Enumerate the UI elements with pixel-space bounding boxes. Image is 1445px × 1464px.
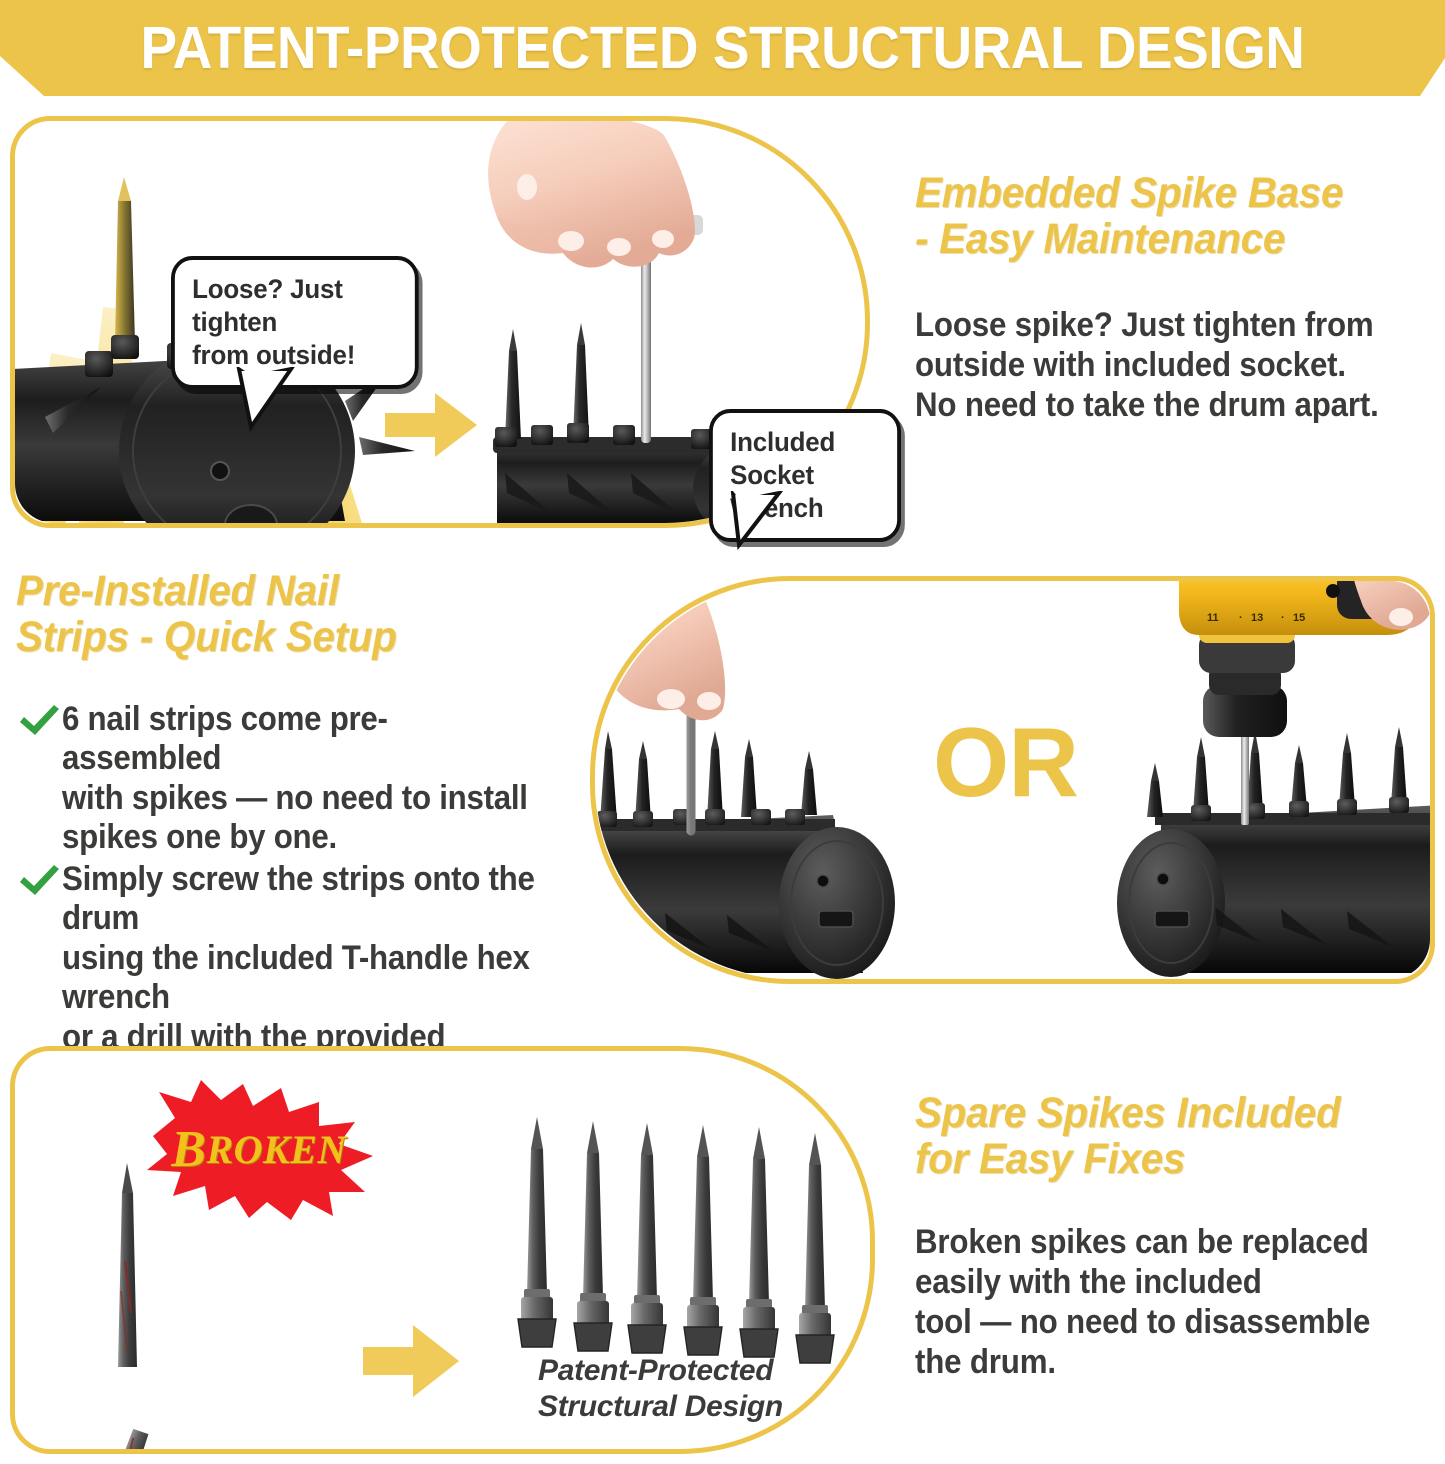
check-icon	[16, 704, 62, 738]
heading-pre-installed-nail-strips: Pre-Installed Nail Strips - Quick Setup	[16, 568, 542, 660]
body-embedded-spike-base: Loose spike? Just tighten from outside w…	[915, 305, 1412, 425]
speech-bubble-loose-tail	[233, 367, 303, 433]
electric-drill-icon: 11· 13· 15	[1179, 581, 1430, 737]
aerator-drum-drill	[1117, 727, 1430, 977]
svg-text:13: 13	[1251, 612, 1263, 624]
broken-spike-tip-icon	[118, 1163, 137, 1367]
or-label: OR	[933, 713, 1078, 811]
spikes-caption: Patent-Protected Structural Design	[538, 1353, 868, 1425]
svg-text:·: ·	[1239, 612, 1243, 624]
page-title: PATENT-PROTECTED STRUCTURAL DESIGN	[51, 0, 1395, 96]
aerator-drum-hexkey	[595, 731, 895, 979]
list-item: 6 nail strips come pre-assembled with sp…	[16, 700, 586, 858]
hex-bit-icon	[1241, 729, 1249, 825]
svg-text:·: ·	[1281, 612, 1285, 624]
installed-spikes-right	[1147, 727, 1407, 817]
broken-burst-icon	[143, 1078, 375, 1220]
heading-spare-spikes: Spare Spikes Included for Easy Fixes	[915, 1090, 1423, 1182]
process-arrow-icon-2	[363, 1325, 459, 1397]
svg-text:15: 15	[1293, 612, 1305, 624]
panel-spare-spikes: Patent-Protected Structural Design	[10, 1046, 875, 1454]
check-icon	[16, 864, 62, 898]
panel-pre-installed-tools: 11· 13· 15 OR	[590, 576, 1435, 984]
speech-bubble-socket-tail	[727, 491, 791, 551]
spare-spikes-row	[518, 1117, 834, 1363]
list-item-label: 6 nail strips come pre-assembled with sp…	[62, 700, 544, 858]
installed-spikes-left	[600, 731, 817, 821]
installed-spikes	[505, 323, 589, 439]
panel-embedded-spike-base: Loose? Just tighten from outside! Includ…	[10, 116, 870, 528]
heading-embedded-spike-base: Embedded Spike Base - Easy Maintenance	[915, 170, 1423, 262]
broken-spike-base-icon	[75, 1424, 168, 1449]
svg-text:11: 11	[1207, 612, 1219, 624]
hand-icon-left	[597, 581, 725, 720]
hand-icon	[488, 121, 695, 268]
body-spare-spikes: Broken spikes can be replaced easily wit…	[915, 1222, 1412, 1382]
